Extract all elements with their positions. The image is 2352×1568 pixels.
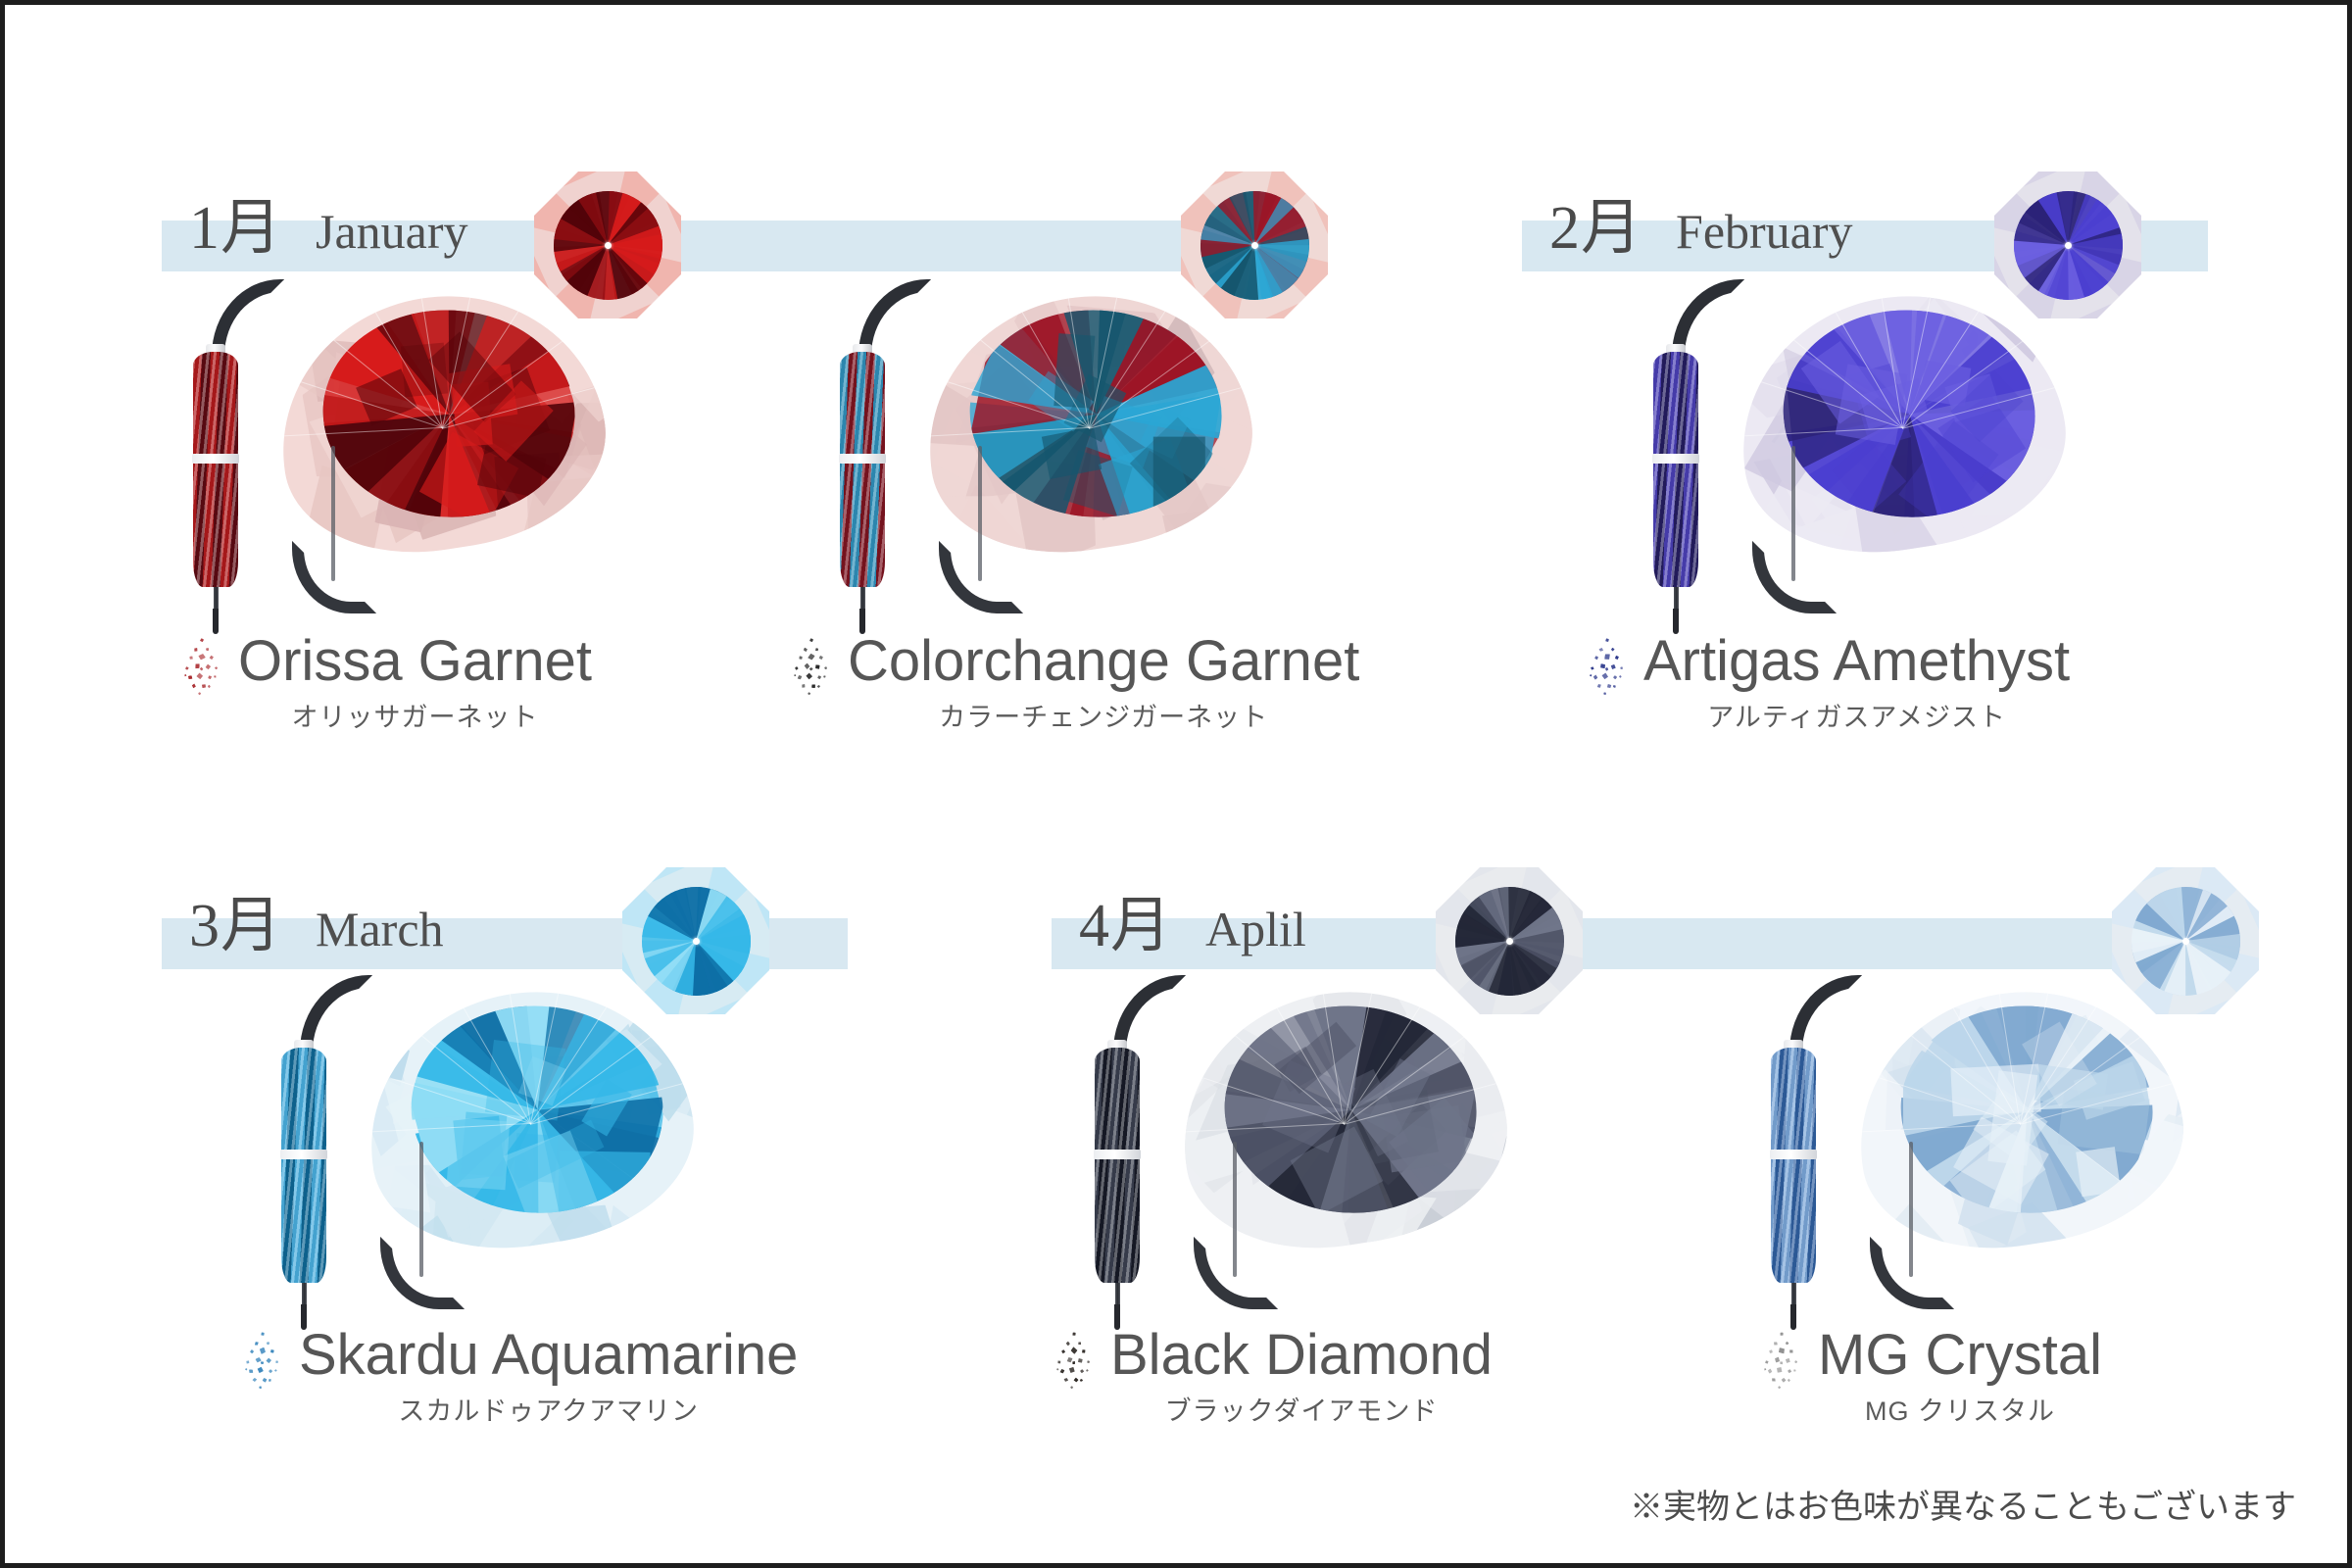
umbrella-hook-handle bbox=[1870, 1237, 1954, 1309]
umbrella-hook-handle bbox=[292, 541, 376, 613]
gem-droplet-icon bbox=[1759, 1332, 1804, 1393]
closed-umbrella-photo bbox=[260, 975, 348, 1318]
product-caption: Skardu Aquamarineスカルドゥアクアマリン bbox=[240, 1326, 798, 1428]
closed-canopy bbox=[1771, 1048, 1816, 1283]
product-caption: Orissa Garnetオリッサガーネット bbox=[179, 632, 592, 734]
month-label: 2月February bbox=[1549, 177, 1853, 266]
product-photo-group bbox=[1632, 279, 2239, 652]
month-label-en: March bbox=[316, 902, 444, 956]
gem-top-disc bbox=[1455, 887, 1564, 996]
product-name-jp: アルティガスアメジスト bbox=[1643, 696, 2070, 734]
gem-facet-print bbox=[1220, 1000, 1483, 1219]
product-name-en: Colorchange Garnet bbox=[848, 632, 1359, 690]
open-umbrella-photo bbox=[1857, 993, 2180, 1316]
product-photo-group bbox=[1073, 975, 1681, 1347]
umbrella-top-center bbox=[2065, 242, 2072, 249]
month-label: 1月January bbox=[189, 177, 468, 266]
umbrella-hook-handle bbox=[1752, 541, 1837, 613]
product-name-en: MG Crystal bbox=[1818, 1326, 2102, 1384]
umbrella-strap bbox=[839, 454, 886, 464]
gem-facet-print bbox=[318, 304, 581, 523]
month-label: 3月March bbox=[189, 875, 444, 963]
umbrella-hook-handle bbox=[1194, 1237, 1278, 1309]
month-label-jp: 3月 bbox=[189, 893, 282, 959]
month-label-en: January bbox=[316, 204, 468, 259]
umbrella-hook-handle bbox=[380, 1237, 465, 1309]
product-name-block: Artigas Amethystアルティガスアメジスト bbox=[1643, 632, 2070, 734]
gem-facet-print bbox=[1779, 304, 2041, 523]
umbrella-top-view-photo bbox=[1436, 867, 1583, 1014]
umbrella-strap bbox=[1770, 1150, 1817, 1159]
umbrella-strap bbox=[1652, 454, 1699, 464]
product-photo-group bbox=[171, 279, 779, 652]
gem-droplet-icon bbox=[789, 638, 834, 699]
product-photo-group bbox=[1749, 975, 2352, 1347]
product-name-en: Black Diamond bbox=[1110, 1326, 1493, 1384]
open-umbrella-photo bbox=[367, 993, 691, 1316]
open-umbrella-photo bbox=[1181, 993, 1504, 1316]
month-label-en: February bbox=[1676, 204, 1853, 259]
month-label-jp: 4月 bbox=[1079, 893, 1172, 959]
disclaimer-note: ※実物とはお色味が異なることもございます bbox=[1630, 1480, 2296, 1528]
closed-umbrella-photo bbox=[1749, 975, 1837, 1318]
product-caption: Colorchange Garnetカラーチェンジガーネット bbox=[789, 632, 1359, 734]
product-photo-group bbox=[818, 279, 1426, 652]
closed-canopy bbox=[1095, 1048, 1140, 1283]
product-caption: Artigas Amethystアルティガスアメジスト bbox=[1585, 632, 2070, 734]
umbrella-top-view-photo bbox=[622, 867, 769, 1014]
month-header-january: 1月January bbox=[162, 173, 1318, 271]
gem-droplet-icon bbox=[1052, 1332, 1097, 1393]
umbrella-tip bbox=[213, 609, 219, 634]
product-caption: Black Diamondブラックダイアモンド bbox=[1052, 1326, 1493, 1428]
product-name-block: Colorchange Garnetカラーチェンジガーネット bbox=[848, 632, 1359, 734]
gem-facet-print bbox=[407, 1000, 669, 1219]
open-umbrella-photo bbox=[926, 297, 1249, 620]
gem-droplet-icon bbox=[240, 1332, 285, 1393]
umbrella-top-center bbox=[2182, 938, 2189, 945]
product-caption: MG CrystalMG クリスタル bbox=[1759, 1326, 2102, 1428]
month-label-jp: 1月 bbox=[189, 195, 282, 262]
closed-umbrella-photo bbox=[1073, 975, 1161, 1318]
umbrella-strap bbox=[1094, 1150, 1141, 1159]
gem-droplet-icon bbox=[179, 638, 224, 699]
umbrella-strap bbox=[280, 1150, 327, 1159]
product-name-block: Skardu Aquamarineスカルドゥアクアマリン bbox=[299, 1326, 798, 1428]
gem-facet-print bbox=[1896, 1000, 2159, 1219]
closed-umbrella-photo bbox=[171, 279, 260, 622]
umbrella-top-center bbox=[693, 938, 700, 945]
month-label-jp: 2月 bbox=[1549, 195, 1642, 262]
umbrella-top-center bbox=[605, 242, 612, 249]
umbrella-top-view-photo bbox=[1994, 171, 2141, 318]
gem-droplet-icon bbox=[1585, 638, 1630, 699]
product-name-jp: ブラックダイアモンド bbox=[1110, 1390, 1493, 1428]
closed-canopy bbox=[193, 352, 238, 587]
product-name-en: Artigas Amethyst bbox=[1643, 632, 2070, 690]
closed-canopy bbox=[840, 352, 885, 587]
open-umbrella-photo bbox=[1739, 297, 2063, 620]
product-name-block: MG CrystalMG クリスタル bbox=[1818, 1326, 2102, 1428]
gem-top-disc bbox=[642, 887, 751, 996]
umbrella-top-view-photo bbox=[1181, 171, 1328, 318]
month-label-en: Aplil bbox=[1205, 902, 1306, 956]
gem-top-disc bbox=[1200, 191, 1309, 300]
product-name-en: Orissa Garnet bbox=[238, 632, 592, 690]
product-name-jp: カラーチェンジガーネット bbox=[848, 696, 1359, 734]
gem-top-disc bbox=[554, 191, 662, 300]
closed-canopy bbox=[281, 1048, 326, 1283]
month-label: 4月Aplil bbox=[1079, 875, 1306, 963]
closed-umbrella-photo bbox=[818, 279, 906, 622]
product-name-en: Skardu Aquamarine bbox=[299, 1326, 798, 1384]
open-umbrella-photo bbox=[279, 297, 603, 620]
month-header-april: 4月Aplil bbox=[1052, 871, 2208, 969]
umbrella-hook-handle bbox=[939, 541, 1023, 613]
umbrella-top-view-photo bbox=[534, 171, 681, 318]
product-name-block: Black Diamondブラックダイアモンド bbox=[1110, 1326, 1493, 1428]
product-name-jp: オリッサガーネット bbox=[238, 696, 592, 734]
product-name-jp: スカルドゥアクアマリン bbox=[299, 1390, 798, 1428]
product-name-jp: MG クリスタル bbox=[1818, 1390, 2102, 1428]
catalog-page: 1月January 2月February 3月March 4月Aplil Ori… bbox=[0, 0, 2352, 1568]
product-name-block: Orissa Garnetオリッサガーネット bbox=[238, 632, 592, 734]
product-photo-group bbox=[260, 975, 867, 1347]
gem-top-disc bbox=[2014, 191, 2123, 300]
closed-canopy bbox=[1653, 352, 1698, 587]
umbrella-top-center bbox=[1506, 938, 1513, 945]
umbrella-top-center bbox=[1251, 242, 1258, 249]
umbrella-top-view-photo bbox=[2112, 867, 2259, 1014]
gem-top-disc bbox=[2131, 887, 2240, 996]
gem-facet-print bbox=[965, 304, 1228, 523]
umbrella-strap bbox=[192, 454, 239, 464]
closed-umbrella-photo bbox=[1632, 279, 1720, 622]
